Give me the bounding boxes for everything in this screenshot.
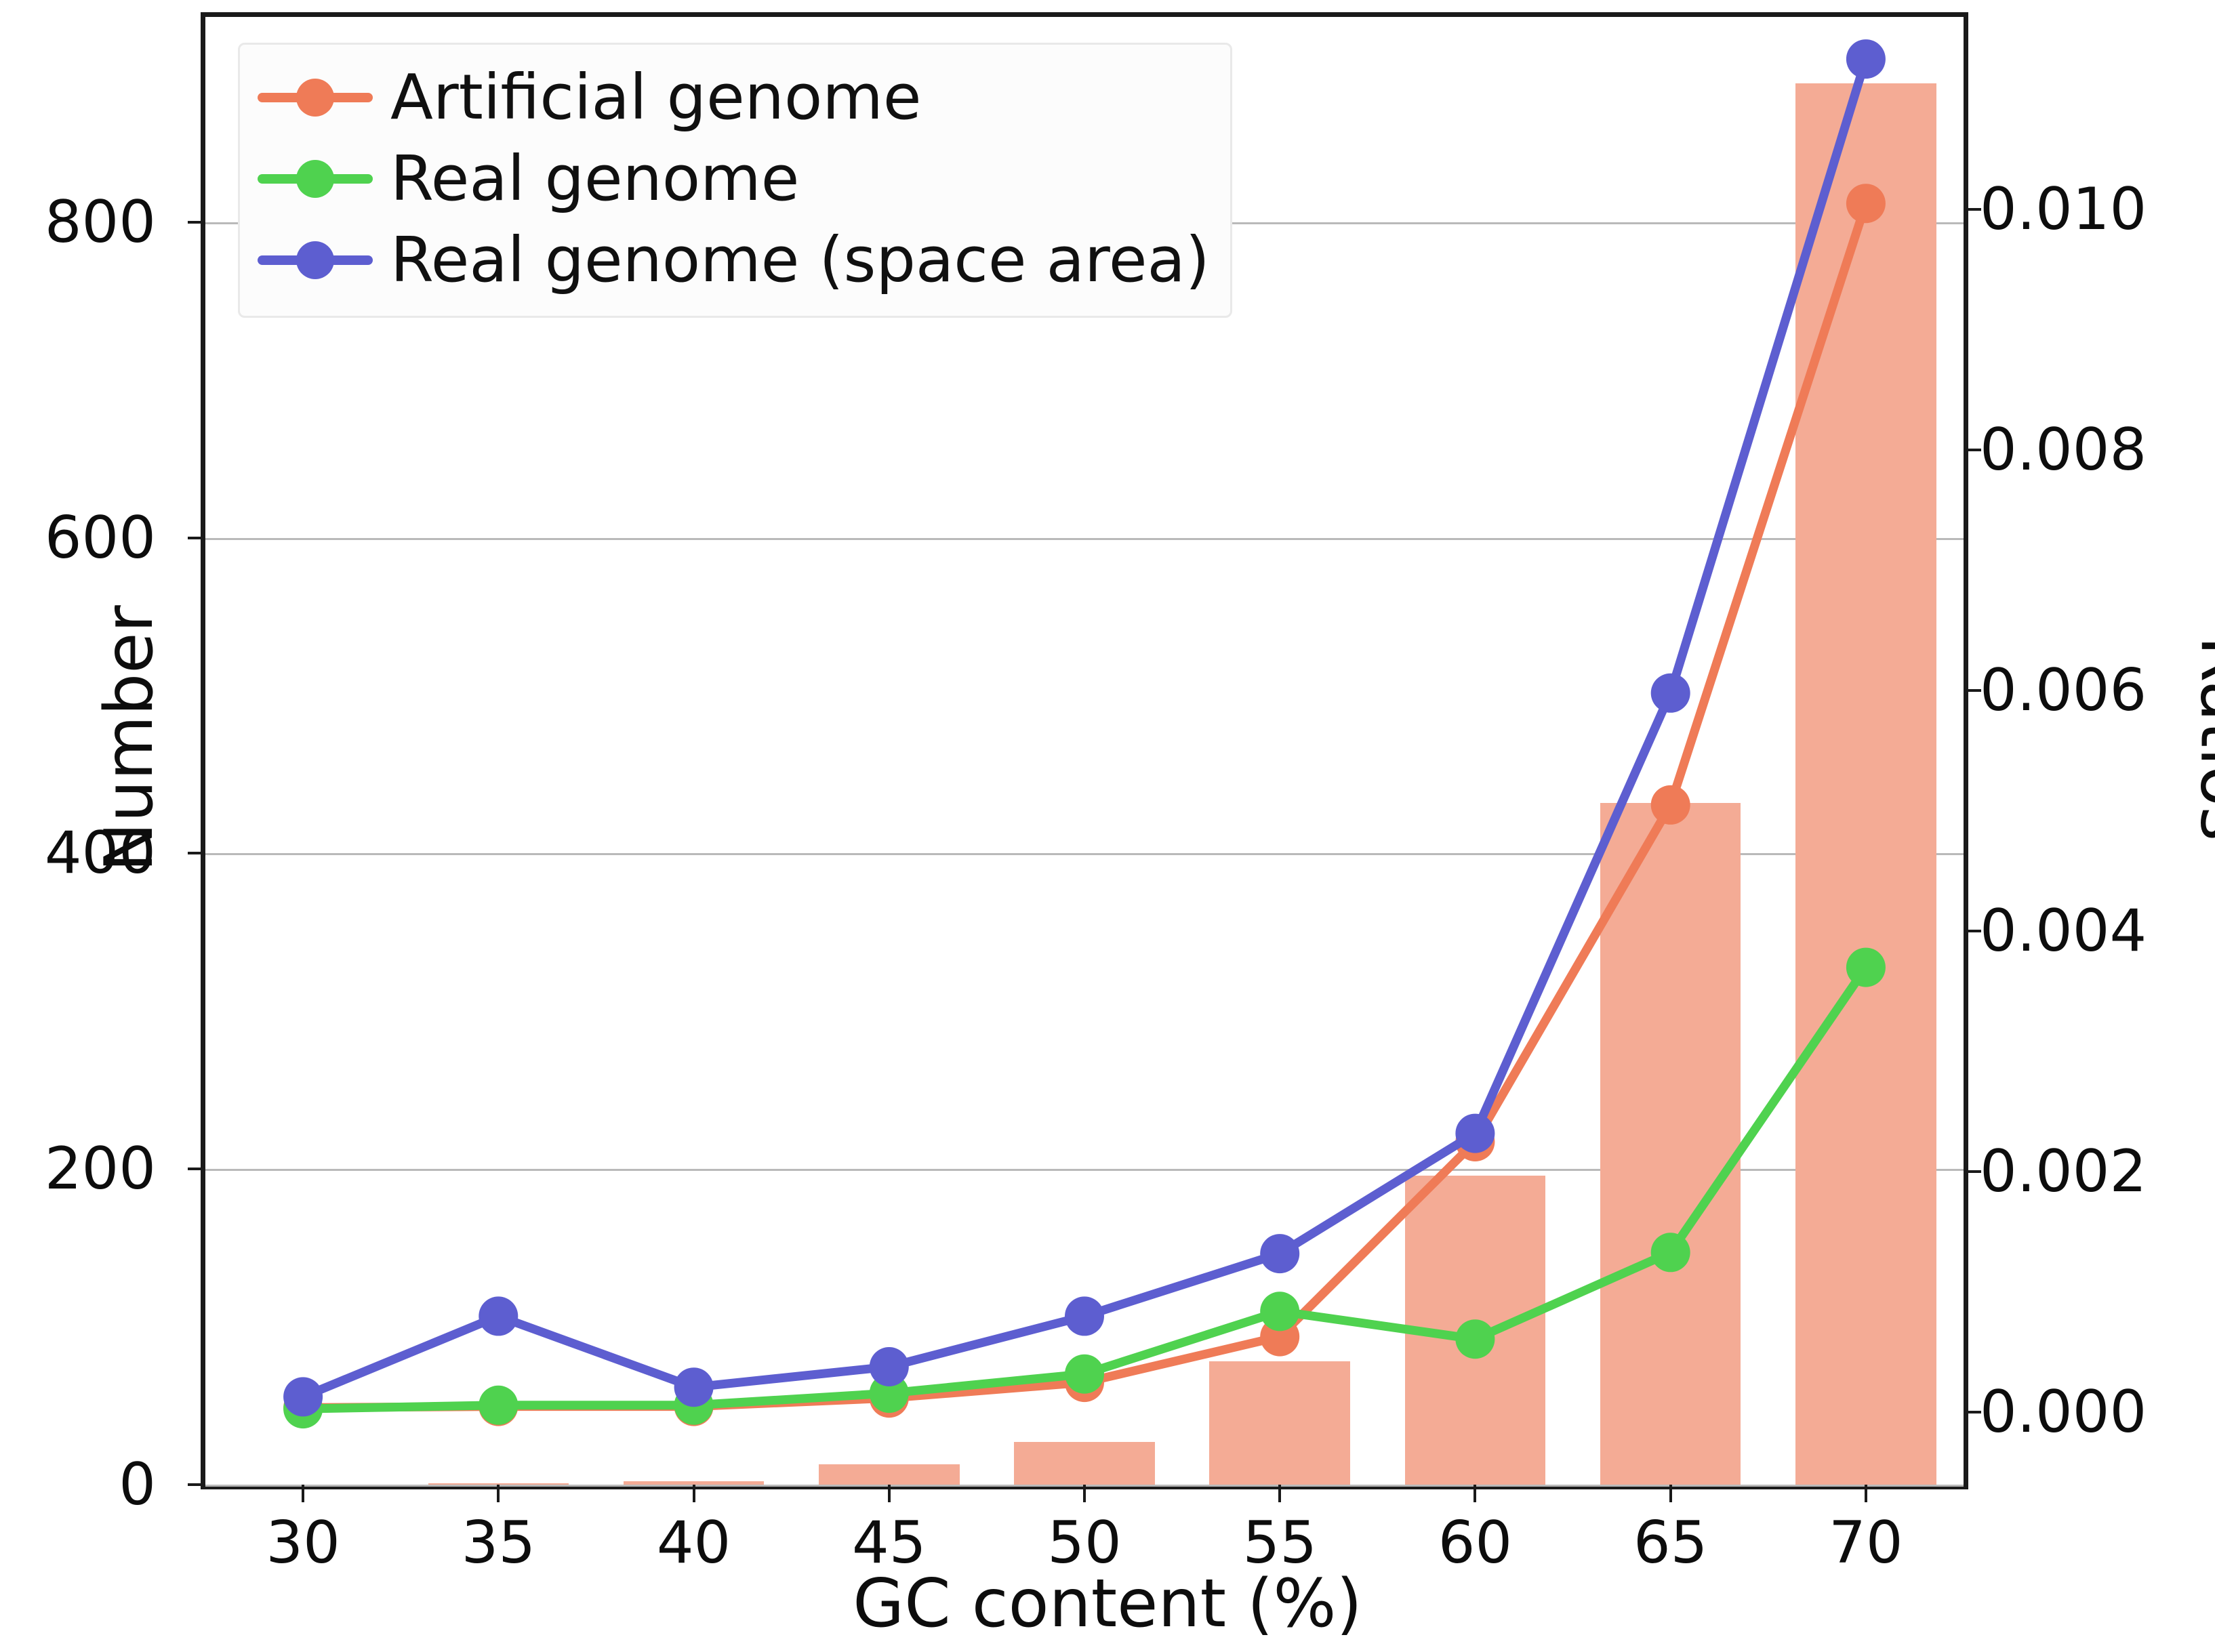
y-axis-left-tick-label: 800	[45, 193, 156, 251]
x-axis-tick-label: 35	[462, 1514, 535, 1572]
y-axis-left-tick-mark	[188, 852, 205, 854]
y-axis-left-tick-label: 400	[45, 824, 156, 882]
x-axis-tick-label: 45	[852, 1514, 926, 1572]
line-real-genome	[303, 968, 1866, 1409]
plot-area: Artificial genome Real genome Real genom…	[201, 12, 1968, 1489]
data-point-marker	[1260, 1292, 1299, 1331]
y-axis-left-tick-label: 0	[119, 1455, 156, 1514]
x-axis-tick-label: 55	[1243, 1514, 1317, 1572]
y-axis-left-tick-mark	[188, 1483, 205, 1486]
chart-canvas: Number 0200400600800 Artificial genome	[0, 0, 2215, 1652]
x-axis-tick-mark	[1278, 1485, 1281, 1502]
legend-marker-icon	[258, 251, 373, 269]
data-point-marker	[1846, 39, 1886, 79]
data-point-marker	[1846, 184, 1886, 223]
y-axis-left-tick-mark	[188, 221, 205, 224]
y-axis-right-tick-labels: 0.0000.0020.0040.0060.0080.010	[1978, 12, 2134, 1489]
x-axis-tick-mark	[302, 1485, 304, 1502]
legend-label: Real genome	[390, 148, 799, 210]
y-axis-left-tick-label: 600	[45, 509, 156, 567]
data-point-marker	[674, 1367, 714, 1407]
data-point-marker	[870, 1347, 909, 1386]
data-point-marker	[283, 1377, 323, 1416]
x-axis-tick-label: 65	[1633, 1514, 1707, 1572]
x-axis-tick-label: 30	[266, 1514, 340, 1572]
legend-item-real-genome[interactable]: Real genome	[258, 138, 1210, 220]
x-axis-tick-mark	[1083, 1485, 1086, 1502]
legend: Artificial genome Real genome Real genom…	[238, 43, 1232, 318]
data-point-marker	[1065, 1296, 1104, 1336]
x-axis-tick-mark	[1669, 1485, 1672, 1502]
x-axis-tick-mark	[888, 1485, 891, 1502]
x-axis-tick-label: 60	[1438, 1514, 1512, 1572]
data-point-marker	[1651, 785, 1690, 825]
legend-label: Artificial genome	[390, 66, 921, 129]
data-point-marker	[1455, 1319, 1495, 1359]
plot-inner: Artificial genome Real genome Real genom…	[205, 17, 1964, 1485]
legend-item-real-genome-space-area[interactable]: Real genome (space area)	[258, 220, 1210, 301]
legend-label: Real genome (space area)	[390, 229, 1210, 291]
data-point-marker	[1455, 1114, 1495, 1153]
y-axis-left-tick-label: 200	[45, 1140, 156, 1198]
data-point-marker	[1846, 948, 1886, 987]
y-axis-left-tick-mark	[188, 1168, 205, 1170]
y-axis-right-title-wrap: Ratios	[2121, 0, 2210, 1477]
data-point-marker	[1651, 674, 1690, 713]
line-artificial-genome	[303, 203, 1866, 1407]
data-point-marker	[1260, 1234, 1299, 1273]
x-axis-tick-label: 40	[657, 1514, 731, 1572]
y-axis-left-tick-labels: 0200400600800	[0, 12, 187, 1489]
x-axis-tick-mark	[497, 1485, 500, 1502]
x-axis-tick-mark	[1865, 1485, 1867, 1502]
legend-item-artificial-genome[interactable]: Artificial genome	[258, 57, 1210, 138]
data-point-marker	[479, 1296, 518, 1336]
data-point-marker	[479, 1386, 518, 1425]
y-axis-left-tick-mark	[188, 537, 205, 539]
x-axis-tick-mark	[693, 1485, 695, 1502]
legend-marker-icon	[258, 89, 373, 106]
legend-marker-icon	[258, 170, 373, 188]
data-point-marker	[1065, 1355, 1104, 1394]
y-axis-right-title: Ratios	[2185, 636, 2215, 842]
x-axis-tick-label: 50	[1047, 1514, 1121, 1572]
x-axis-title: GC content (%)	[0, 1565, 2215, 1643]
x-axis-tick-mark	[1474, 1485, 1476, 1502]
x-axis-tick-label: 70	[1829, 1514, 1903, 1572]
data-point-marker	[1651, 1233, 1690, 1272]
